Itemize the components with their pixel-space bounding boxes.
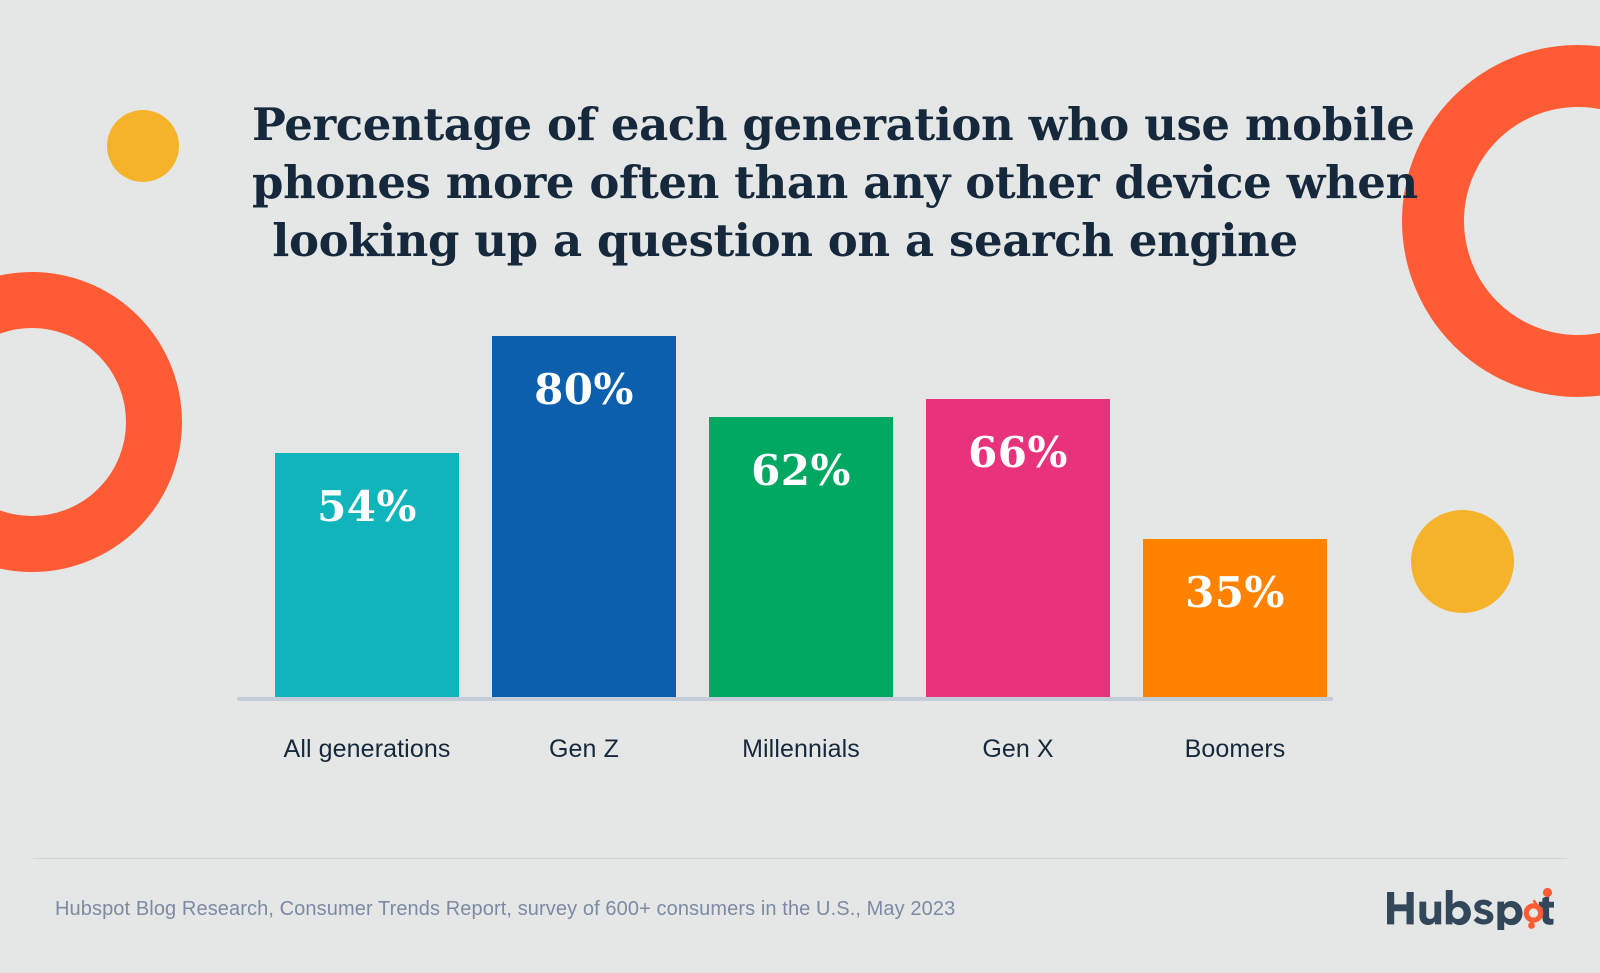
bar-value-gen-x: 66%: [926, 428, 1110, 477]
x-axis-category-labels: All generations Gen Z Millennials Gen X …: [237, 735, 1337, 777]
x-axis-label-boomers: Boomers: [1120, 735, 1350, 764]
source-attribution: Hubspot Blog Research, Consumer Trends R…: [55, 898, 955, 921]
bar-value-boomers: 35%: [1143, 568, 1327, 617]
x-axis-label-millennials: Millennials: [686, 735, 916, 764]
chart-title-line-2: phones more often than any other device …: [252, 154, 1318, 212]
bar-chart-plot-area: 54% 80% 62% 66% 35%: [237, 300, 1337, 697]
bar-chart: 54% 80% 62% 66% 35%: [237, 300, 1337, 700]
bar-value-all-generations: 54%: [275, 482, 459, 531]
chart-title-line-3: looking up a question on a search engine: [252, 212, 1318, 270]
x-axis-label-gen-z: Gen Z: [469, 735, 699, 764]
infographic-canvas: Percentage of each generation who use mo…: [0, 0, 1600, 973]
hubspot-logo-icon: [1385, 884, 1565, 930]
bar-boomers[interactable]: [1143, 539, 1327, 697]
footer-divider: [33, 858, 1567, 859]
yellow-circle-top-left-decoration: [107, 110, 179, 182]
chart-axis-baseline: [237, 697, 1333, 701]
orange-ring-right-decoration: [1402, 45, 1600, 397]
chart-title-line-1: Percentage of each generation who use mo…: [252, 96, 1318, 154]
yellow-circle-right-decoration: [1411, 510, 1514, 613]
bar-value-millennials: 62%: [709, 446, 893, 495]
bar-value-gen-z: 80%: [492, 365, 676, 414]
x-axis-label-all-generations: All generations: [252, 735, 482, 764]
x-axis-label-gen-x: Gen X: [903, 735, 1133, 764]
hubspot-logo[interactable]: [1385, 884, 1565, 930]
chart-title: Percentage of each generation who use mo…: [252, 96, 1318, 270]
orange-ring-left-decoration: [0, 272, 182, 572]
